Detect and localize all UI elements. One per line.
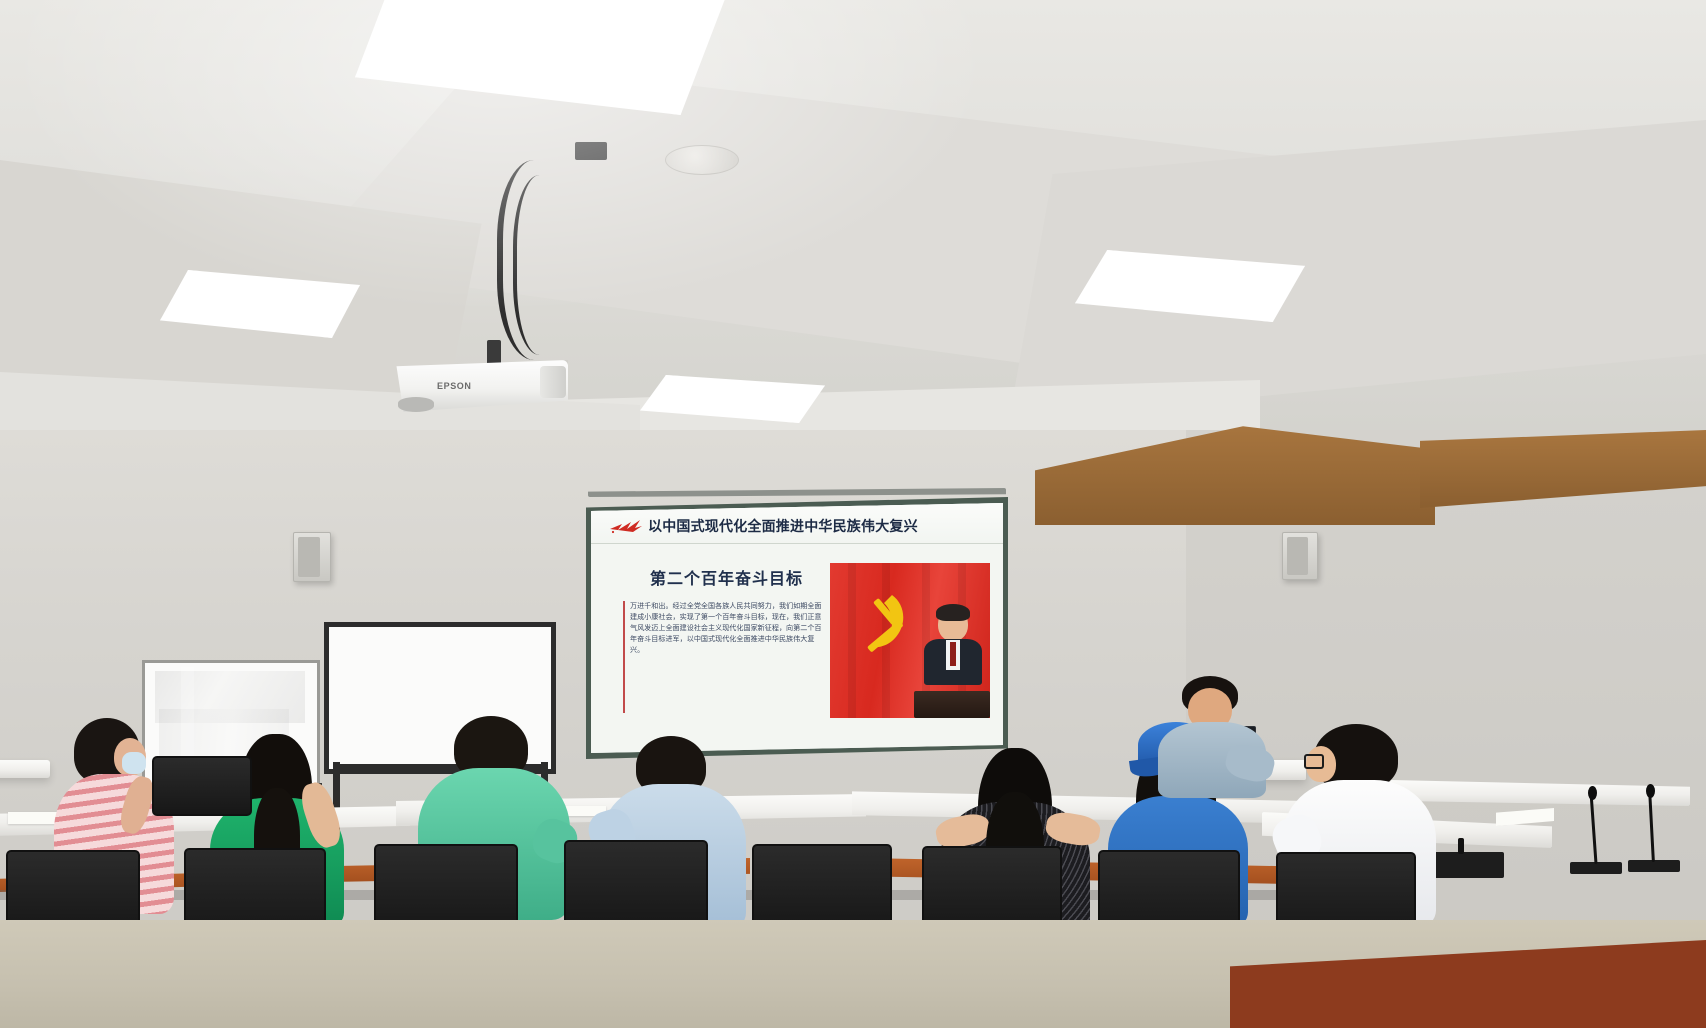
slide-speaker-figure: [922, 607, 988, 697]
slide-surface: 以中国式现代化全面推进中华民族伟大复兴 第二个百年奋斗目标 万进千和出。经过全党…: [591, 503, 1003, 753]
wall-speaker-right: [1282, 532, 1318, 580]
slide-body-text: 万进千和出。经过全党全国各族人民共同努力，我们如期全面建成小康社会，实现了第一个…: [623, 601, 827, 713]
ceiling-speaker-dome: [665, 145, 739, 175]
red-dove-icon: [609, 519, 643, 535]
chair-5-back: [564, 840, 708, 930]
projector-lens: [398, 397, 434, 412]
projector-ceiling-bracket: [575, 142, 607, 160]
conference-room-photo: EPSON 以中国式现代化全面推进中华民族伟大复兴 第二个百年奋斗目标 万进千和…: [0, 0, 1706, 1028]
cpc-party-flag: [830, 563, 990, 718]
attendee-7-glasses: [1304, 754, 1324, 769]
projector-cable-secondary: [513, 175, 579, 355]
projector-brand-label: EPSON: [437, 381, 472, 391]
slide-heading: 第二个百年奋斗目标: [629, 565, 824, 589]
attendee-1-face-mask: [122, 752, 146, 774]
slide-title: 以中国式现代化全面推进中华民族伟大复兴: [648, 516, 918, 536]
chair-2-back: [152, 756, 252, 816]
slide-podium: [914, 691, 990, 718]
speaker-grill-left: [298, 537, 320, 577]
chair-6-back: [752, 844, 892, 932]
speaker-grill-right: [1287, 537, 1308, 575]
mixer-knob[interactable]: [1458, 838, 1464, 854]
projector-vent: [540, 366, 566, 398]
presenter: [1150, 676, 1276, 796]
wall-speaker-left: [293, 532, 331, 582]
microphone-head-1: [1588, 786, 1597, 800]
back-left-small-table: [0, 760, 50, 778]
microphone-head-2: [1646, 784, 1655, 798]
projection-screen[interactable]: 以中国式现代化全面推进中华民族伟大复兴 第二个百年奋斗目标 万进千和出。经过全党…: [591, 503, 1003, 753]
hammer-and-sickle-icon: [852, 589, 914, 655]
